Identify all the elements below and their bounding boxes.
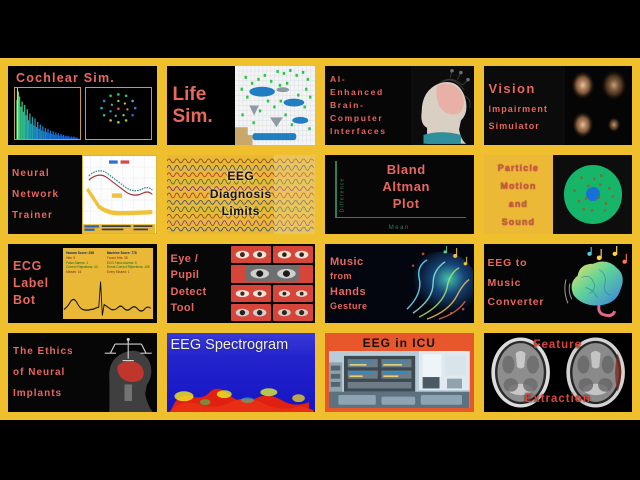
human-score-column: Human Score: 258 Hits: 9 False Alarms: 1… [66,251,106,275]
tile-neural-network-trainer[interactable]: Neural Network Trainer [6,153,159,236]
tile-title-feature-extraction-bottom: Extraction [484,393,633,405]
tile-title-ecg-label-bot: ECG Label Bot [8,244,63,323]
bust-implant-thumb [411,66,473,145]
human-item: Misses: 15 [66,270,106,275]
tile-title-feature-extraction-top: Feature [484,339,633,351]
tile-title-bland-altman-plot: Bland Altman Plot [343,155,470,220]
cellular-automaton-thumb [234,66,315,145]
tile-title-eye-pupil-detect-tool: Eye / Pupil Detect Tool [167,244,229,323]
tile-eeg-to-music-converter[interactable]: EEG to Music Converter [482,242,635,325]
eye-crop [273,246,313,263]
tile-title-music-from-hands-gesture: Music from Hands Gesture [325,244,393,323]
tile-vision-impairment-simulator[interactable]: Vision Impairment Simulator [482,64,635,147]
tile-title-neural-network-trainer: Neural Network Trainer [8,155,82,234]
tile-eye-pupil-detect-tool[interactable]: Eye / Pupil Detect Tool [165,242,318,325]
electrode-dots-icon [86,88,151,127]
particle-disc-thumb [553,155,632,234]
training-curve-thumb [82,155,156,234]
electrode-map-panel [85,87,152,140]
loss-curve-icon [83,156,155,233]
tile-title-eeg-diagnosis-limits: EEG Diagnosis Limits [167,155,316,234]
tile-title-vision-impairment-simulator: Vision Impairment Simulator [484,66,566,145]
tile-eeg-in-icu[interactable]: EEG in ICU [323,331,476,414]
ecg-score-panel: Human Score: 258 Hits: 9 False Alarms: 1… [63,248,152,319]
eye-crop-grid [229,244,315,323]
tile-music-from-hands-gesture[interactable]: Music from Hands Gesture [323,242,476,325]
spectrogram-panel [14,87,81,140]
eye-crop [231,304,271,321]
machine-score-column: Machine Score: 778 Found Hits: 38 ECG Fa… [107,251,152,275]
icu-photo [329,351,470,408]
tile-feature-extraction[interactable]: Feature Extraction [482,331,635,414]
tile-title-eeg-to-music-converter: EEG to Music Converter [484,244,564,323]
machine-item: Every Missed: 1 [107,270,152,275]
icu-equipment-icon [329,351,470,408]
eye-crop [273,304,313,321]
hand-music-art-thumb [393,244,473,323]
spectrogram-icon [15,88,80,139]
tile-title-the-ethics-of-neural-implants: The Ethics of Neural Implants [8,333,100,412]
eye-crop [231,285,271,302]
tile-title-particle-motion-and-sound: Particle Motion and Sound [484,155,554,234]
bust-icon [411,66,473,145]
tile-ai-enhanced-bci[interactable]: AI- Enhanced Brain- Computer Interfaces [323,64,476,147]
particle-disc [564,165,622,223]
eye-crop [273,285,313,302]
tile-eeg-spectrogram[interactable]: EEG Spectrogram [165,331,318,414]
tile-title-ai-enhanced-bci: AI- Enhanced Brain- Computer Interfaces [325,66,411,145]
tile-cochlear-sim[interactable]: Cochlear Sim. [6,64,159,147]
tile-ecg-label-bot[interactable]: ECG Label Bot Human Score: 258 Hits: 9 F… [6,242,159,325]
life-grid-icon [235,66,315,145]
blurred-faces-thumb [565,66,632,145]
tile-title-eeg-in-icu: EEG in ICU [325,336,474,350]
screen: Cochlear Sim. [0,0,640,480]
tile-title-cochlear-sim: Cochlear Sim. [8,66,157,87]
eye-crop [231,246,271,263]
scales-head-icon [100,333,156,412]
y-axis-line [335,161,337,218]
x-axis-label: Mean [325,225,474,231]
tile-title-life-sim: Life Sim. [167,66,235,145]
particles-icon [564,165,622,223]
ethics-scales-thumb [100,333,156,412]
cochlear-panels [8,87,157,145]
abstract-music-hand-icon [393,244,473,323]
eye-crop-wide [231,265,313,282]
tile-bland-altman-plot[interactable]: Difference Mean Bland Altman Plot [323,153,476,236]
ecg-trace-icon [63,278,152,319]
tile-the-ethics-of-neural-implants[interactable]: The Ethics of Neural Implants [6,331,159,414]
tile-life-sim[interactable]: Life Sim. [165,64,318,147]
brain-music-thumb [564,244,632,323]
tile-eeg-diagnosis-limits[interactable]: EEG Diagnosis Limits [165,153,318,236]
thumbnail-grid: Cochlear Sim. [0,58,640,420]
tile-particle-motion-and-sound[interactable]: Particle Motion and Sound [482,153,635,236]
blurred-faces-icon [565,66,632,145]
brain-notes-icon [564,244,632,323]
tile-title-eeg-spectrogram: EEG Spectrogram [171,337,289,353]
